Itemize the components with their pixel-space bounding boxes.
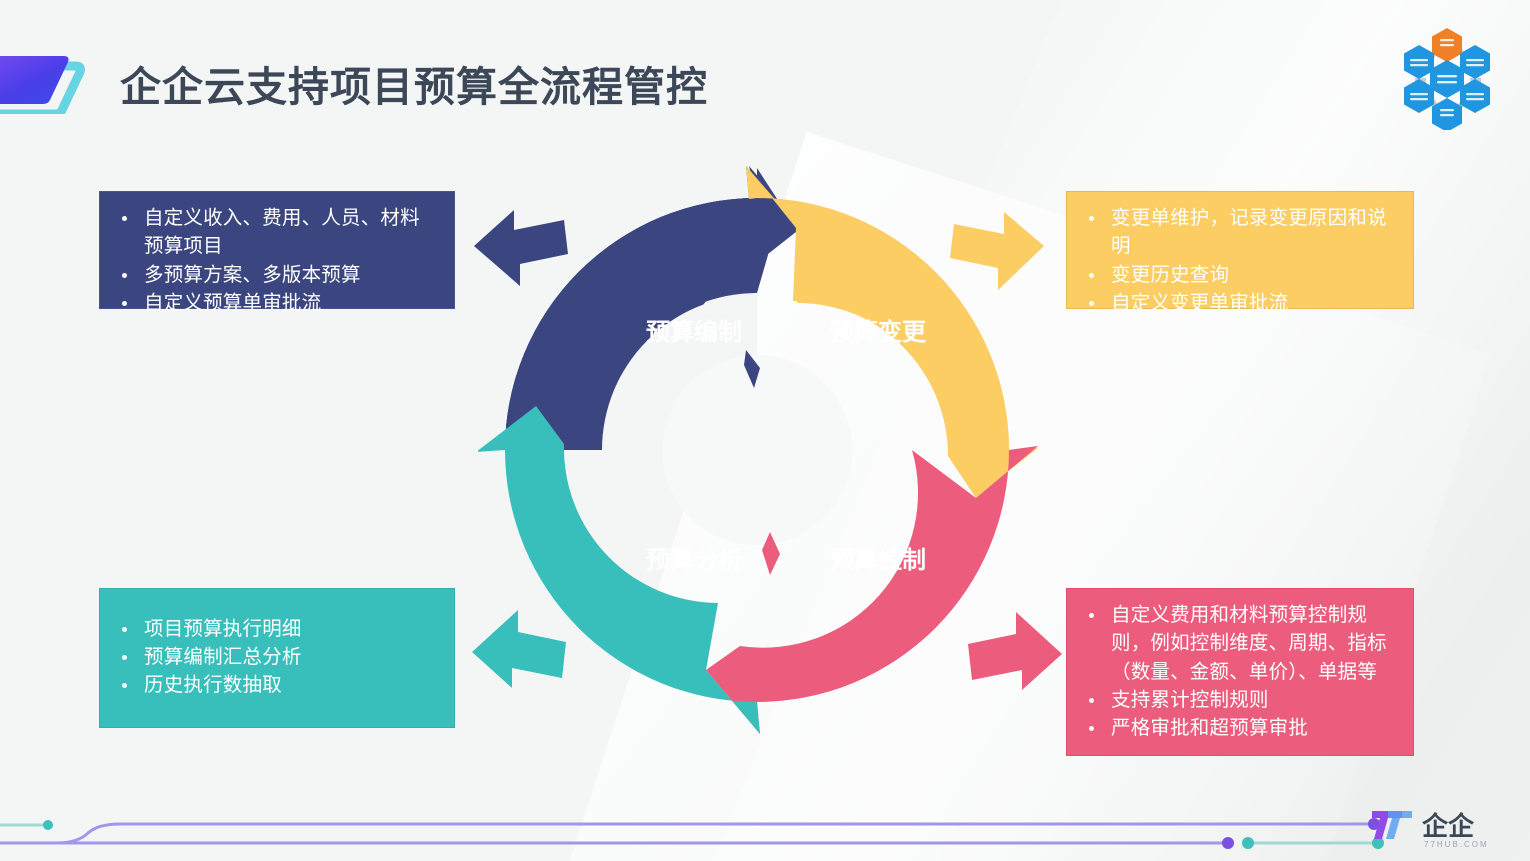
logo-domain: 77HUB.COM: [1424, 840, 1489, 849]
cycle-segment-analysis-label: 预算分析: [646, 546, 742, 574]
list-item: 自定义变更单审批流: [1077, 289, 1397, 317]
list-item: 项目预算执行明细: [110, 615, 302, 643]
cycle-center-hole: [662, 355, 852, 545]
list-item: 自定义收入、费用、人员、材料预算项目: [110, 204, 438, 261]
slide-canvas: 企企云支持项目预算全流程管控: [0, 0, 1530, 861]
page-title: 企企云支持项目预算全流程管控: [120, 53, 708, 113]
infobox-budget-change[interactable]: 变更单维护，记录变更原因和说明 变更历史查询 自定义变更单审批流: [1066, 191, 1414, 309]
prepare-outward-arrow-icon: [468, 198, 578, 298]
infobox-budget-preparation[interactable]: 自定义收入、费用、人员、材料预算项目 多预算方案、多版本预算 自定义预算单审批流: [99, 191, 455, 309]
svg-text:企企: 企企: [1422, 811, 1475, 841]
list-item: 自定义预算单审批流: [110, 289, 438, 317]
list-item: 变更单维护，记录变更原因和说明: [1077, 204, 1397, 261]
analysis-outward-arrow-icon: [466, 598, 576, 698]
list-item: 历史执行数抽取: [110, 671, 302, 699]
infobox-budget-control[interactable]: 自定义费用和材料预算控制规则，例如控制维度、周期、指标（数量、金额、单价）、单据…: [1066, 588, 1414, 756]
control-outward-arrow-icon: [958, 598, 1068, 698]
list-item: 变更历史查询: [1077, 261, 1397, 289]
list-item: 自定义费用和材料预算控制规则，例如控制维度、周期、指标（数量、金额、单价）、单据…: [1077, 601, 1397, 686]
footer-decoration-lines: [0, 799, 1530, 861]
list-item: 多预算方案、多版本预算: [110, 261, 438, 289]
infobox-budget-analysis[interactable]: 项目预算执行明细 预算编制汇总分析 历史执行数抽取: [99, 588, 455, 728]
cycle-segment-prepare-label: 预算编制: [646, 318, 742, 346]
cycle-segment-change-label: 预算变更: [830, 318, 927, 346]
77-logo-mark-icon: [1372, 811, 1412, 839]
logo-name: 企企: [1422, 811, 1475, 841]
hexagon-cluster-logo-icon: [1392, 22, 1502, 130]
change-outward-arrow-icon: [940, 202, 1050, 302]
cycle-segment-control-label: 预算控制: [830, 546, 926, 574]
list-item: 预算编制汇总分析: [110, 643, 302, 671]
list-item: 支持累计控制规则: [1077, 686, 1397, 714]
corner-trapezoid-decoration-icon: [0, 38, 86, 114]
list-item: 严格审批和超预算审批: [1077, 714, 1397, 742]
77hub-logo[interactable]: 企企 77HUB.COM: [1368, 805, 1508, 851]
